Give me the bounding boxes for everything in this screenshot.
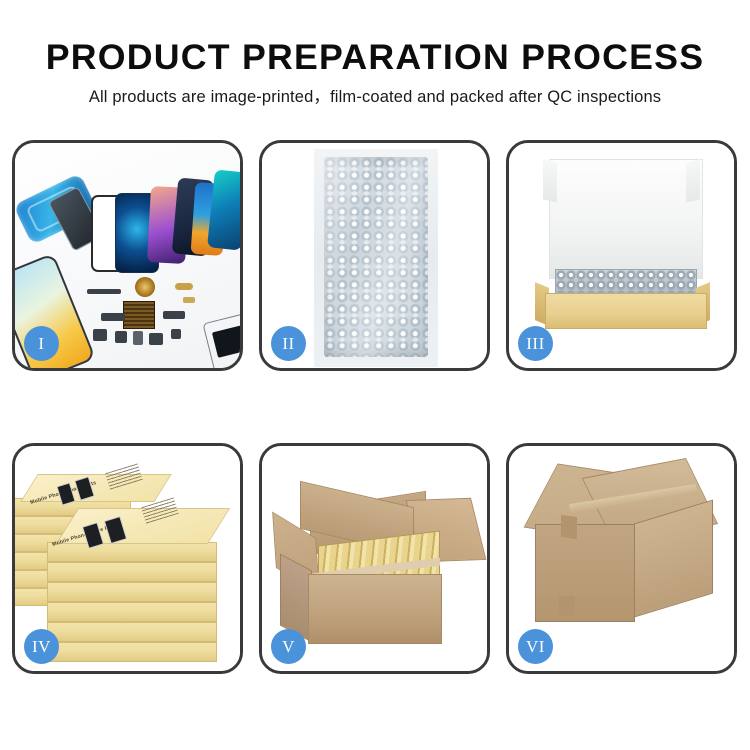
camera-module-part: [101, 313, 125, 321]
process-step-1: I: [12, 140, 243, 371]
process-step-5: V: [259, 443, 490, 674]
speaker-part: [93, 329, 107, 341]
page-subtitle: All products are image-printed，film-coat…: [0, 78, 750, 107]
box-lid-flap-left: [543, 159, 557, 202]
spare-parts-group: [87, 275, 240, 368]
step-badge-4: IV: [24, 629, 59, 664]
ribbon-cable-part: [163, 311, 185, 319]
process-grid: I II III: [12, 140, 738, 674]
product-lineup-photo: I: [15, 143, 240, 368]
sealed-carton-photo: VI: [509, 446, 734, 671]
step-badge-6: VI: [518, 629, 553, 664]
logic-board-part: [202, 308, 240, 368]
inner-box-photo: III: [509, 143, 734, 368]
infographic-page: PRODUCT PREPARATION PROCESS All products…: [0, 0, 750, 750]
process-step-4: Mobile Phone Spare Parts Mobile Phone Sp…: [12, 443, 243, 674]
box-lid-flap-right: [686, 159, 700, 202]
process-step-6: VI: [506, 443, 737, 674]
gold-clip-part: [183, 297, 195, 303]
stacked-box-front-6: [47, 642, 217, 662]
carton-front-wall: [308, 574, 442, 644]
step-badge-2: II: [271, 326, 306, 361]
screw-group-part: [171, 329, 181, 339]
stacked-box-front-2: [47, 562, 217, 582]
button-part: [115, 331, 127, 343]
box-front-yellow: [545, 293, 707, 329]
carton-handle-tab-bottom: [559, 596, 575, 616]
step-badge-5: V: [271, 629, 306, 664]
sealed-carton-front: [535, 524, 635, 622]
stacked-boxes-photo: Mobile Phone Spare Parts Mobile Phone Sp…: [15, 446, 240, 671]
circuit-chip-part: [123, 301, 155, 329]
carton-filling-photo: V: [262, 446, 487, 671]
step-badge-3: III: [518, 326, 553, 361]
header: PRODUCT PREPARATION PROCESS All products…: [0, 0, 750, 107]
step-badge-1: I: [24, 326, 59, 361]
page-title: PRODUCT PREPARATION PROCESS: [0, 0, 750, 78]
stacked-box-front-5: [47, 622, 217, 642]
process-step-2: II: [259, 140, 490, 371]
gold-connector-part: [175, 283, 193, 290]
taptic-part: [149, 333, 163, 345]
stacked-box-front-1: [47, 542, 217, 562]
box-lid-white: [549, 159, 703, 279]
bubble-wrap-photo: II: [262, 143, 487, 368]
stacked-box-front-3: [47, 582, 217, 602]
plastic-sheen: [324, 157, 428, 357]
carton-handle-tab-top: [561, 515, 577, 539]
sim-tray-part: [133, 331, 143, 345]
vibration-motor-part: [135, 277, 155, 297]
process-step-3: III: [506, 140, 737, 371]
stacked-box-front-4: [47, 602, 217, 622]
flex-cable-part: [87, 289, 121, 294]
